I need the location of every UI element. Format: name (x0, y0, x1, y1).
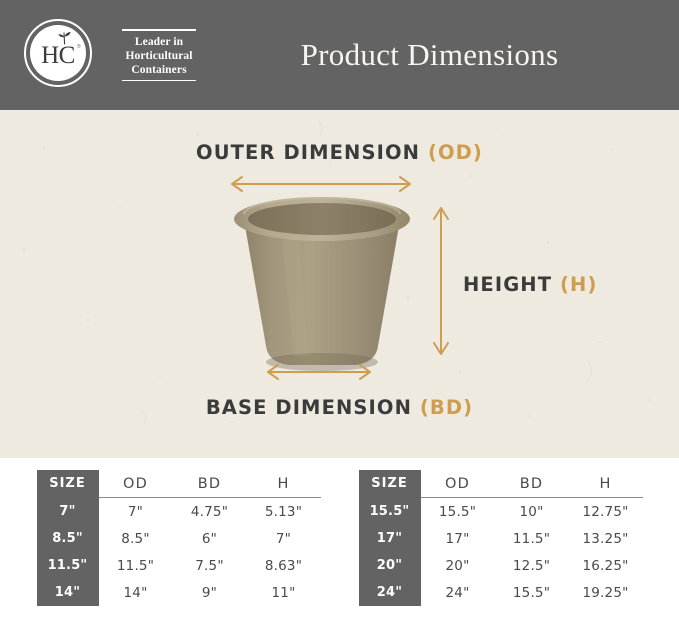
diagram-panel: OUTER DIMENSION (OD) (0, 110, 679, 458)
cell-bd: 11.5" (495, 525, 569, 552)
table-row: 17" 17" 11.5" 13.25" (359, 525, 643, 552)
table-header-row: SIZE OD BD H (37, 470, 321, 498)
table-row: 20" 20" 12.5" 16.25" (359, 552, 643, 579)
tagline-line-2: Horticultural (122, 49, 196, 63)
cell-h: 7" (247, 525, 321, 552)
table-row: 14" 14" 9" 11" (37, 579, 321, 606)
cell-h: 11" (247, 579, 321, 606)
cell-bd: 4.75" (173, 498, 247, 526)
planter-pot-illustration (222, 194, 422, 372)
col-header-bd: BD (173, 470, 247, 498)
cell-h: 5.13" (247, 498, 321, 526)
cell-h: 12.75" (569, 498, 643, 526)
product-dimensions-infographic: HC ® Leader in Horticultural Containers … (0, 0, 679, 636)
tagline-line-1: Leader in (122, 35, 196, 49)
leaf-sprout-icon (56, 31, 74, 45)
base-dimension-label: BASE DIMENSION (BD) (0, 396, 679, 419)
cell-bd: 15.5" (495, 579, 569, 606)
cell-bd: 10" (495, 498, 569, 526)
base-dimension-arrow-icon (263, 362, 375, 382)
cell-size: 8.5" (37, 525, 99, 552)
col-header-od: OD (99, 470, 173, 498)
cell-h: 16.25" (569, 552, 643, 579)
col-header-size: SIZE (37, 470, 99, 498)
cell-od: 20" (421, 552, 495, 579)
cell-size: 20" (359, 552, 421, 579)
cell-h: 8.63" (247, 552, 321, 579)
base-dimension-abbr: (BD) (420, 396, 473, 419)
cell-od: 17" (421, 525, 495, 552)
cell-od: 11.5" (99, 552, 173, 579)
height-abbr: (H) (560, 273, 597, 296)
cell-h: 19.25" (569, 579, 643, 606)
cell-od: 24" (421, 579, 495, 606)
cell-size: 14" (37, 579, 99, 606)
hc-logo-icon: HC ® (22, 17, 98, 93)
dimension-tables: SIZE OD BD H 7" 7" 4.75" 5.13" 8.5" 8.5"… (0, 470, 679, 606)
col-header-od: OD (421, 470, 495, 498)
cell-bd: 7.5" (173, 552, 247, 579)
col-header-h: H (569, 470, 643, 498)
brand-lockup: HC ® Leader in Horticultural Containers (22, 14, 196, 96)
header-bar: HC ® Leader in Horticultural Containers … (0, 0, 679, 110)
col-header-h: H (247, 470, 321, 498)
cell-size: 7" (37, 498, 99, 526)
cell-size: 17" (359, 525, 421, 552)
tagline-rule-bottom (122, 80, 196, 82)
outer-dimension-arrow-icon (227, 174, 415, 194)
table-row: 24" 24" 15.5" 19.25" (359, 579, 643, 606)
large-sizes-table: SIZE OD BD H 15.5" 15.5" 10" 12.75" 17" … (359, 470, 643, 606)
base-dimension-text: BASE DIMENSION (206, 396, 412, 419)
height-arrow-icon (431, 203, 451, 359)
height-label: HEIGHT (H) (463, 273, 597, 296)
cell-od: 8.5" (99, 525, 173, 552)
height-text: HEIGHT (463, 273, 552, 296)
outer-dimension-abbr: (OD) (428, 141, 483, 164)
tagline-line-3: Containers (122, 63, 196, 77)
outer-dimension-text: OUTER DIMENSION (196, 141, 420, 164)
table-header-row: SIZE OD BD H (359, 470, 643, 498)
col-header-bd: BD (495, 470, 569, 498)
cell-bd: 6" (173, 525, 247, 552)
cell-od: 15.5" (421, 498, 495, 526)
cell-size: 24" (359, 579, 421, 606)
table-row: 11.5" 11.5" 7.5" 8.63" (37, 552, 321, 579)
table-row: 8.5" 8.5" 6" 7" (37, 525, 321, 552)
small-sizes-table: SIZE OD BD H 7" 7" 4.75" 5.13" 8.5" 8.5"… (37, 470, 321, 606)
table-row: 7" 7" 4.75" 5.13" (37, 498, 321, 526)
cell-od: 14" (99, 579, 173, 606)
cell-bd: 12.5" (495, 552, 569, 579)
cell-od: 7" (99, 498, 173, 526)
table-row: 15.5" 15.5" 10" 12.75" (359, 498, 643, 526)
cell-h: 13.25" (569, 525, 643, 552)
cell-bd: 9" (173, 579, 247, 606)
outer-dimension-label: OUTER DIMENSION (OD) (0, 141, 679, 164)
brand-tagline: Leader in Horticultural Containers (110, 29, 196, 81)
cell-size: 15.5" (359, 498, 421, 526)
trademark-symbol: ® (77, 44, 81, 50)
col-header-size: SIZE (359, 470, 421, 498)
cell-size: 11.5" (37, 552, 99, 579)
